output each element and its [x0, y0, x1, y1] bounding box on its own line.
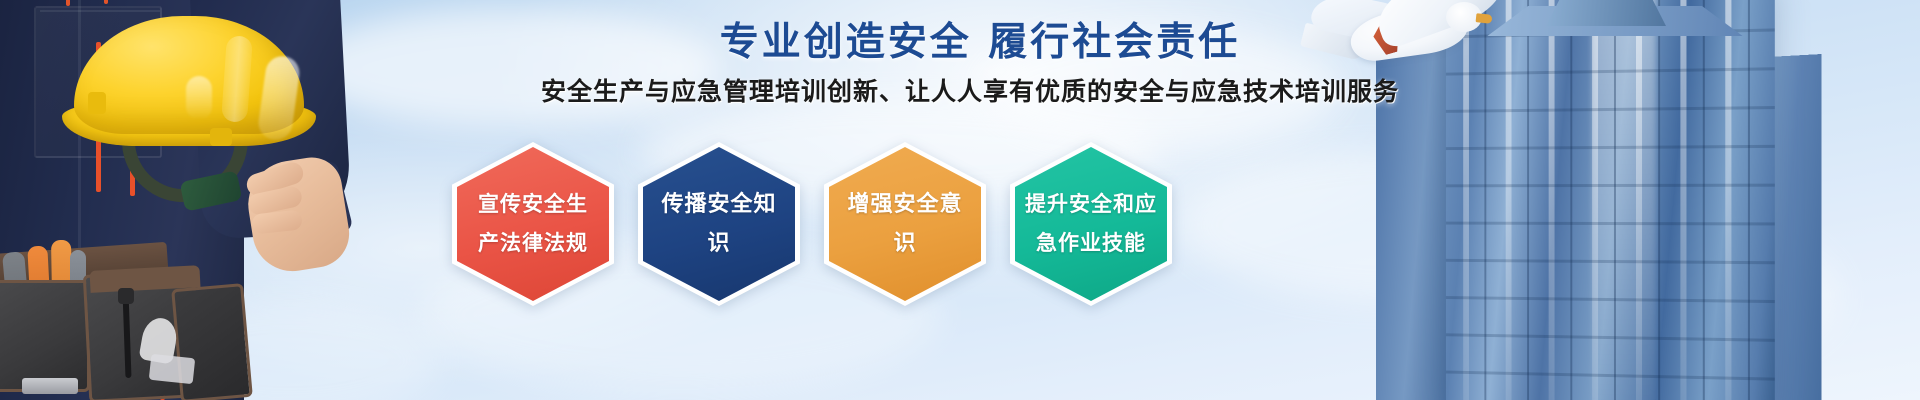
- safety-training-banner: 专业创造安全 履行社会责任 安全生产与应急管理培训创新、让人人享有优质的安全与应…: [0, 0, 1920, 400]
- wrench-icon: [149, 354, 195, 384]
- hexagon-raise-safety-awareness[interactable]: 增强安全意识: [824, 142, 986, 306]
- hexagon-improve-emergency-skills[interactable]: 提升安全和应 急作业技能: [1010, 142, 1172, 306]
- value-hexagon-row: 宣传安全生 产法律法规 传播安全知识 增强安全意识: [452, 142, 1172, 306]
- banner-headline: 专业创造安全 履行社会责任: [0, 11, 1920, 67]
- tool-pouch: [0, 280, 90, 392]
- hexagon-label: 传播安全知识: [653, 185, 785, 263]
- hexagon-spread-safety-knowledge[interactable]: 传播安全知识: [638, 142, 800, 306]
- banner-subtitle: 安全生产与应急管理培训创新、让人人享有优质的安全与应急技术培训服务: [0, 72, 1920, 108]
- hexagon-promote-safety-laws[interactable]: 宣传安全生 产法律法规: [452, 142, 614, 306]
- hexagon-label: 提升安全和应 急作业技能: [1025, 185, 1157, 263]
- hexagon-label: 宣传安全生 产法律法规: [478, 185, 588, 263]
- hexagon-label: 增强安全意识: [839, 185, 971, 263]
